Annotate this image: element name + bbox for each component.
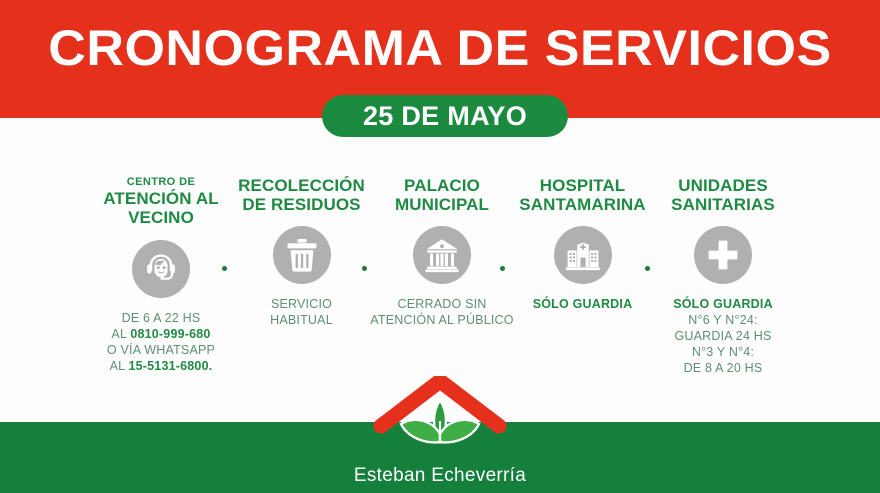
medical-cross-icon xyxy=(694,226,752,284)
infographic-page: CRONOGRAMA DE SERVICIOS 25 DE MAYO CENTR… xyxy=(0,0,880,493)
service-title-line2: VECINO xyxy=(128,208,194,227)
service-title-line1: UNIDADES xyxy=(678,176,768,195)
service-body-line: N°6 Y N°24: xyxy=(648,312,798,328)
government-building-icon xyxy=(413,226,471,284)
services-row: CENTRO DE ATENCIÓN AL VECINO xyxy=(92,176,792,386)
service-body-line: N°3 Y N°4: xyxy=(648,344,798,360)
logo-name: Esteban Echeverría xyxy=(335,465,545,487)
service-title-line1: ATENCIÓN AL xyxy=(103,189,218,208)
service-body-line: CERRADO SIN xyxy=(357,296,527,312)
service-title-line1: HOSPITAL xyxy=(540,176,626,195)
page-title: CRONOGRAMA DE SERVICIOS xyxy=(0,20,880,76)
service-body: CERRADO SIN ATENCIÓN AL PÚBLICO xyxy=(357,296,527,328)
service-title-line2: SANTAMARINA xyxy=(519,195,645,214)
service-body-line: O VÍA WHATSAPP xyxy=(86,342,236,358)
service-icon-wrap xyxy=(413,226,471,284)
service-body-line: SÓLO GUARDIA xyxy=(648,296,798,312)
service-body-line: DE 6 A 22 HS xyxy=(86,310,236,326)
service-body: DE 6 A 22 HS AL 0810-999-680 O VÍA WHATS… xyxy=(86,310,236,374)
house-roof-leaves-logo xyxy=(356,376,524,464)
municipality-logo: Esteban Echeverría xyxy=(335,376,545,487)
service-body: SERVICIO HABITUAL xyxy=(227,296,377,328)
service-body-line: GUARDIA 24 HS xyxy=(648,328,798,344)
headset-operator-icon xyxy=(132,240,190,298)
service-column-hospital-santamarina: HOSPITAL SANTAMARINA xyxy=(514,176,652,214)
service-body-line: ATENCIÓN AL PÚBLICO xyxy=(357,312,527,328)
service-title-line1: PALACIO xyxy=(404,176,480,195)
date-badge-label: 25 DE MAYO xyxy=(363,101,527,132)
service-body: SÓLO GUARDIA N°6 Y N°24: GUARDIA 24 HS N… xyxy=(648,296,798,376)
service-title-line2: SANITARIAS xyxy=(671,195,775,214)
service-icon-wrap xyxy=(273,226,331,284)
service-icon-wrap xyxy=(132,240,190,298)
service-eyebrow: CENTRO DE xyxy=(127,176,195,189)
service-column-recoleccion-residuos: RECOLECCIÓN DE RESIDUOS xyxy=(233,176,371,214)
service-body-line: AL 0810-999-680 xyxy=(86,326,236,342)
service-body-line: SÓLO GUARDIA xyxy=(508,296,658,312)
service-body-line: AL 15-5131-6800. xyxy=(86,358,236,374)
service-title-line2: DE RESIDUOS xyxy=(242,195,360,214)
service-icon-wrap xyxy=(554,226,612,284)
service-icon-wrap xyxy=(694,226,752,284)
service-body-line: DE 8 A 20 HS xyxy=(648,360,798,376)
service-column-centro-atencion-vecino: CENTRO DE ATENCIÓN AL VECINO xyxy=(92,176,230,227)
service-body: SÓLO GUARDIA xyxy=(508,296,658,312)
service-column-palacio-municipal: PALACIO MUNICIPAL xyxy=(373,176,511,214)
date-badge: 25 DE MAYO xyxy=(322,95,568,137)
service-column-unidades-sanitarias: UNIDADES SANITARIAS SÓLO GUARDIA N°6 Y N… xyxy=(654,176,792,214)
service-title-line2: MUNICIPAL xyxy=(395,195,489,214)
service-title-line1: RECOLECCIÓN xyxy=(238,176,365,195)
service-body-line: HABITUAL xyxy=(227,312,377,328)
hospital-building-icon xyxy=(554,226,612,284)
service-body-line: SERVICIO xyxy=(227,296,377,312)
trash-can-icon xyxy=(273,226,331,284)
